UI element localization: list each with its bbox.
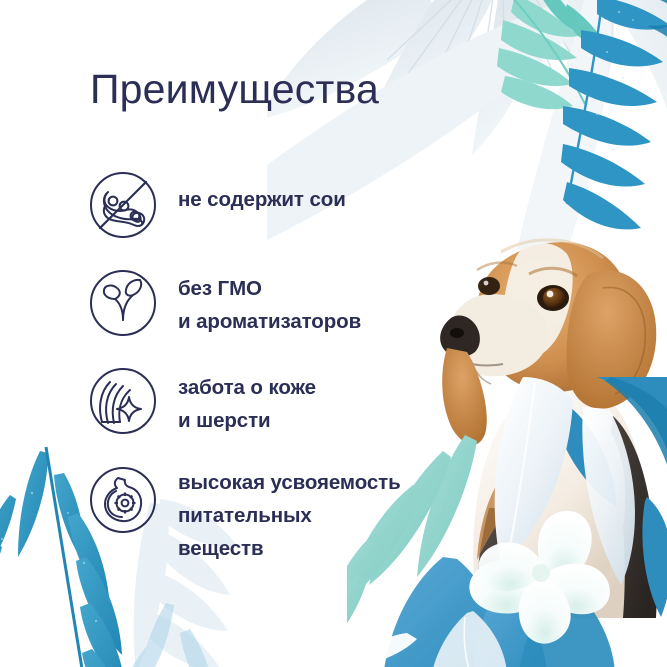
benefit-item-skin-coat: забота о коже и шерсти	[88, 366, 468, 437]
benefit-label: без ГМО и ароматизаторов	[178, 268, 361, 338]
benefit-label: не содержит сои	[178, 170, 346, 216]
stomach-gear-icon	[88, 465, 158, 535]
benefit-item-digestibility: высокая усвояемость питательных веществ	[88, 465, 468, 565]
sprout-leaves-icon	[88, 268, 158, 338]
no-soy-icon	[88, 170, 158, 240]
promo-card: Преимущества не содержит сои	[0, 0, 667, 667]
skin-coat-sparkle-icon	[88, 366, 158, 436]
benefit-label: забота о коже и шерсти	[178, 366, 316, 437]
benefits-list: не содержит сои без ГМО и ароматизаторов	[88, 170, 468, 593]
benefit-label: высокая усвояемость питательных веществ	[178, 465, 401, 565]
page-title: Преимущества	[90, 66, 379, 113]
benefit-item-no-gmo: без ГМО и ароматизаторов	[88, 268, 468, 338]
benefit-item-no-soy: не содержит сои	[88, 170, 468, 240]
